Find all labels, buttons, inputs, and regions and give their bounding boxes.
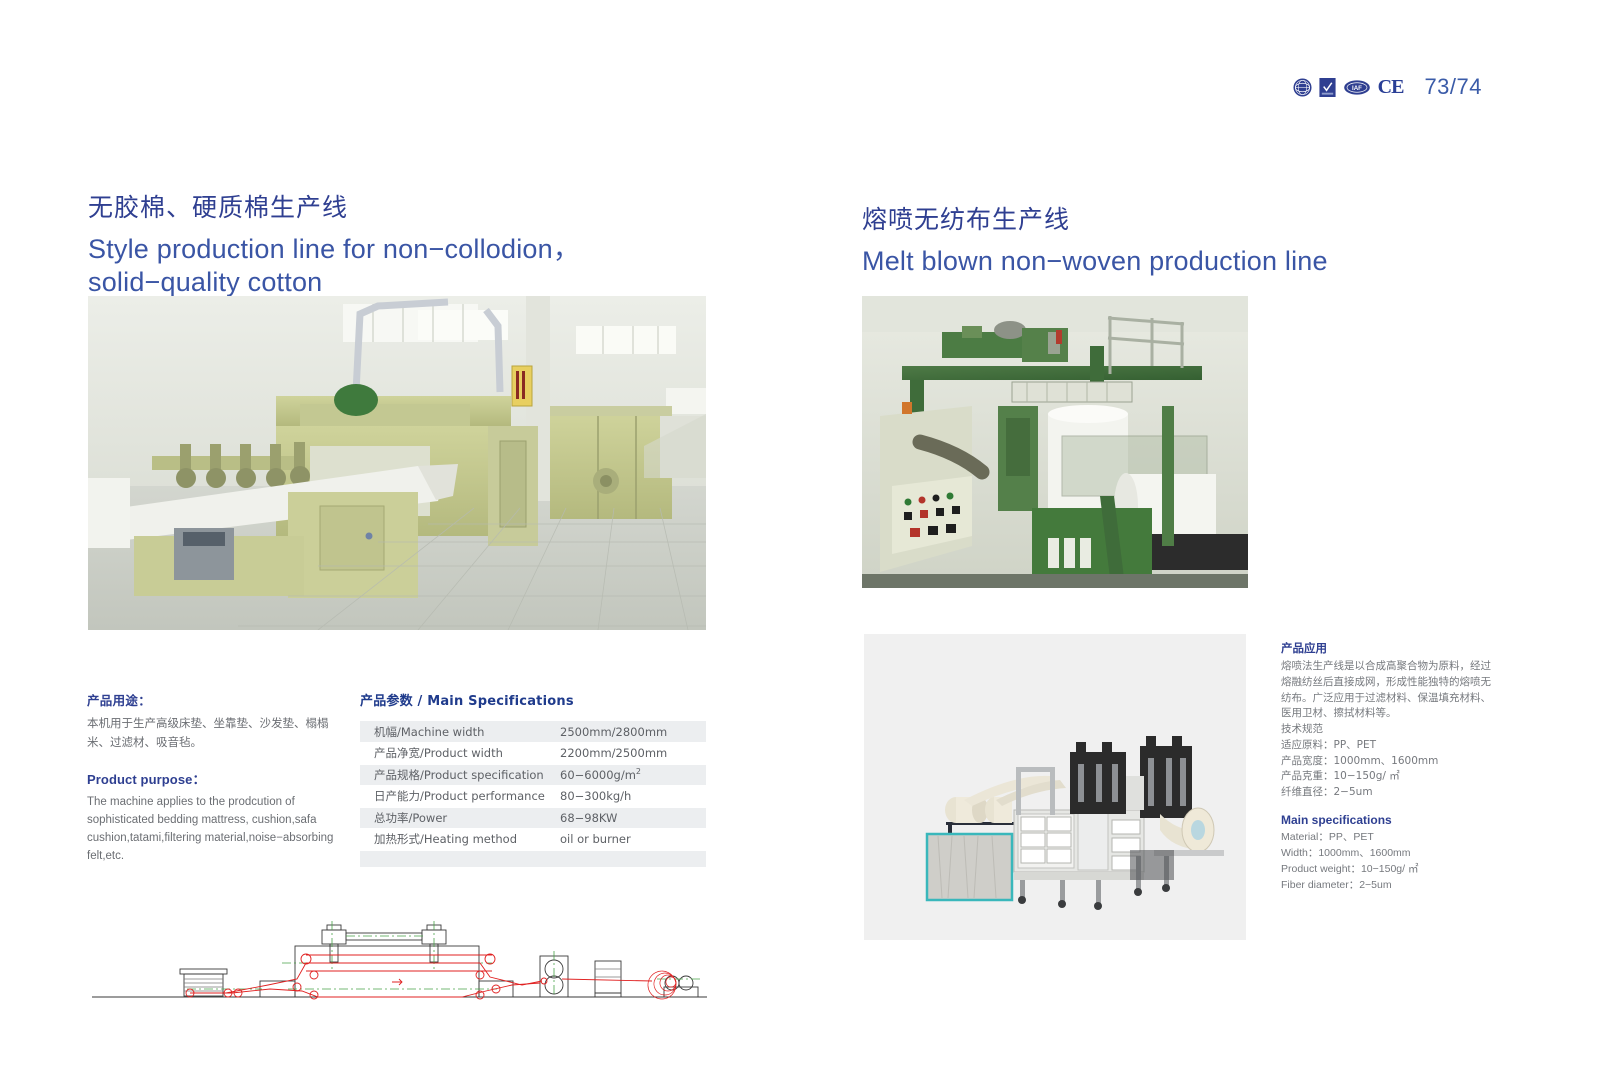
specs-table: 机幅/Machine width2500mm/2800mm产品净宽/Produc…: [360, 721, 706, 868]
spec-key: 产品规格/Product specification: [360, 764, 546, 786]
spec-key: 机幅/Machine width: [360, 721, 546, 743]
left-purpose-block: 产品用途： 本机用于生产高级床垫、坐靠垫、沙发垫、榻榻米、过滤材、吸音毡。 Pr…: [87, 690, 349, 866]
spec-value: 60−6000g/m2: [546, 764, 706, 786]
left-title-en-line1: Style production line for non−collodion，: [88, 233, 728, 266]
page-number: 73/74: [1424, 74, 1482, 100]
main-specifications-block: 产品参数 / Main Specifications 机幅/Machine wi…: [360, 690, 706, 868]
purpose-body-en: The machine applies to the prodcution of…: [87, 793, 349, 866]
spec-key: 产品净宽/Product width: [360, 743, 546, 765]
right-title-cn: 熔喷无纺布生产线: [862, 200, 1482, 236]
left-title-en-line2: solid−quality cotton: [88, 266, 728, 299]
spec-row-spacer: [360, 850, 706, 867]
tech-spec-label-cn: 技术规范: [1281, 722, 1491, 738]
purpose-heading-cn: 产品用途：: [87, 690, 349, 709]
spec-value: 2200mm/2500mm: [546, 743, 706, 765]
main-specifications-heading-en: Main specifications: [1281, 813, 1491, 827]
spec-value: oil or burner: [546, 829, 706, 851]
tech-spec-item-cn: 适应原料：PP、PET: [1281, 738, 1491, 754]
spec-value: 68−98KW: [546, 807, 706, 829]
left-title-cn: 无胶棉、硬质棉生产线: [88, 188, 728, 224]
spec-row: 产品净宽/Product width2200mm/2500mm: [360, 743, 706, 765]
spec-key: 日产能力/Product performance: [360, 786, 546, 808]
tech-spec-item-cn: 产品克重：10−150g/ ㎡: [1281, 769, 1491, 785]
tech-spec-item-en: Product weight：10−150g/ ㎡: [1281, 862, 1491, 878]
spec-key: 加热形式/Heating method: [360, 829, 546, 851]
specs-title: 产品参数 / Main Specifications: [360, 690, 706, 709]
tech-spec-item-cn: 产品宽度：1000mm、1600mm: [1281, 754, 1491, 770]
ce-mark-label: CE: [1378, 77, 1404, 97]
melt-blown-machine-render: [864, 634, 1246, 940]
spec-row: 总功率/Power68−98KW: [360, 807, 706, 829]
spec-value: 80−300kg/h: [546, 786, 706, 808]
spec-key: [360, 850, 546, 867]
production-line-schematic: [92, 893, 707, 1005]
right-title-en: Melt blown non−woven production line: [862, 245, 1482, 278]
tech-spec-list-cn: 适应原料：PP、PET产品宽度：1000mm、1600mm产品克重：10−150…: [1281, 738, 1491, 801]
page-header: IAF CE 73/74: [1293, 74, 1482, 100]
spec-value: [546, 850, 706, 867]
spec-key: 总功率/Power: [360, 807, 546, 829]
spec-row: 加热形式/Heating methodoil or burner: [360, 829, 706, 851]
left-section-title: 无胶棉、硬质棉生产线 Style production line for non…: [88, 188, 728, 299]
purpose-body-cn: 本机用于生产高级床垫、坐靠垫、沙发垫、榻榻米、过滤材、吸音毡。: [87, 714, 349, 752]
quality-check-icon: [1319, 78, 1336, 97]
spec-value: 2500mm/2800mm: [546, 721, 706, 743]
specs-table-body: 机幅/Machine width2500mm/2800mm产品净宽/Produc…: [360, 721, 706, 867]
tech-spec-item-en: Fiber diameter：2−5um: [1281, 878, 1491, 894]
iso-seal-icon: [1293, 78, 1312, 97]
spec-row: 机幅/Machine width2500mm/2800mm: [360, 721, 706, 743]
svg-text:IAF: IAF: [1352, 84, 1362, 91]
tech-spec-item-cn: 纤维直径：2−5um: [1281, 785, 1491, 801]
right-section-title: 熔喷无纺布生产线 Melt blown non−woven production…: [862, 200, 1482, 278]
purpose-heading-en: Product purpose：: [87, 769, 349, 788]
melt-blown-line-photo: [862, 296, 1248, 588]
spec-row: 产品规格/Product specification60−6000g/m2: [360, 764, 706, 786]
application-heading-cn: 产品应用: [1281, 640, 1491, 656]
melt-blown-application-block: 产品应用 熔喷法生产线是以合成高聚合物为原料，经过熔融纺丝后直接成网，形成性能独…: [1281, 640, 1491, 894]
tech-spec-item-en: Material：PP、PET: [1281, 830, 1491, 846]
iaf-oval-icon: IAF: [1343, 78, 1371, 97]
tech-spec-item-en: Width：1000mm、1600mm: [1281, 846, 1491, 862]
tech-spec-list-en: Material：PP、PETWidth：1000mm、1600mmProduc…: [1281, 830, 1491, 894]
left-production-line-photo: [88, 296, 706, 630]
spec-row: 日产能力/Product performance80−300kg/h: [360, 786, 706, 808]
brochure-page: IAF CE 73/74 无胶棉、硬质棉生产线 Style production…: [0, 0, 1600, 1092]
application-body-cn: 熔喷法生产线是以合成高聚合物为原料，经过熔融纺丝后直接成网，形成性能独特的熔喷无…: [1281, 659, 1491, 722]
